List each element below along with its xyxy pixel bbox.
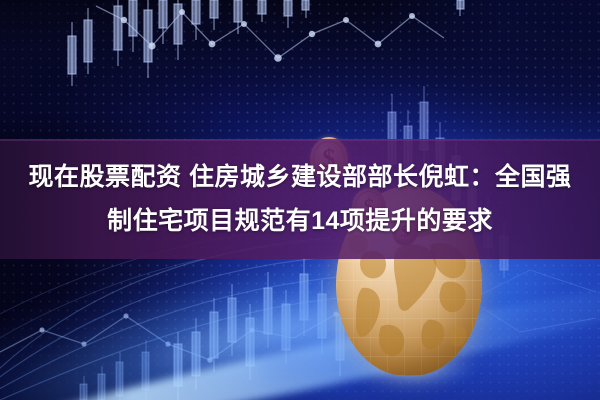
headline-line-1: 现在股票配资 住房城乡建设部部长倪虹：全国强 bbox=[29, 155, 572, 199]
page-title: 现在股票配资 住房城乡建设部部长倪虹：全国强 制住宅项目规范有14项提升的要求 bbox=[0, 139, 600, 259]
headline-line-2: 制住宅项目规范有14项提升的要求 bbox=[107, 199, 493, 243]
banner-image: $ $ $ 现在股票配资 住房城乡建设部部长倪虹：全国强 制住宅项目规范有14项… bbox=[0, 0, 600, 400]
